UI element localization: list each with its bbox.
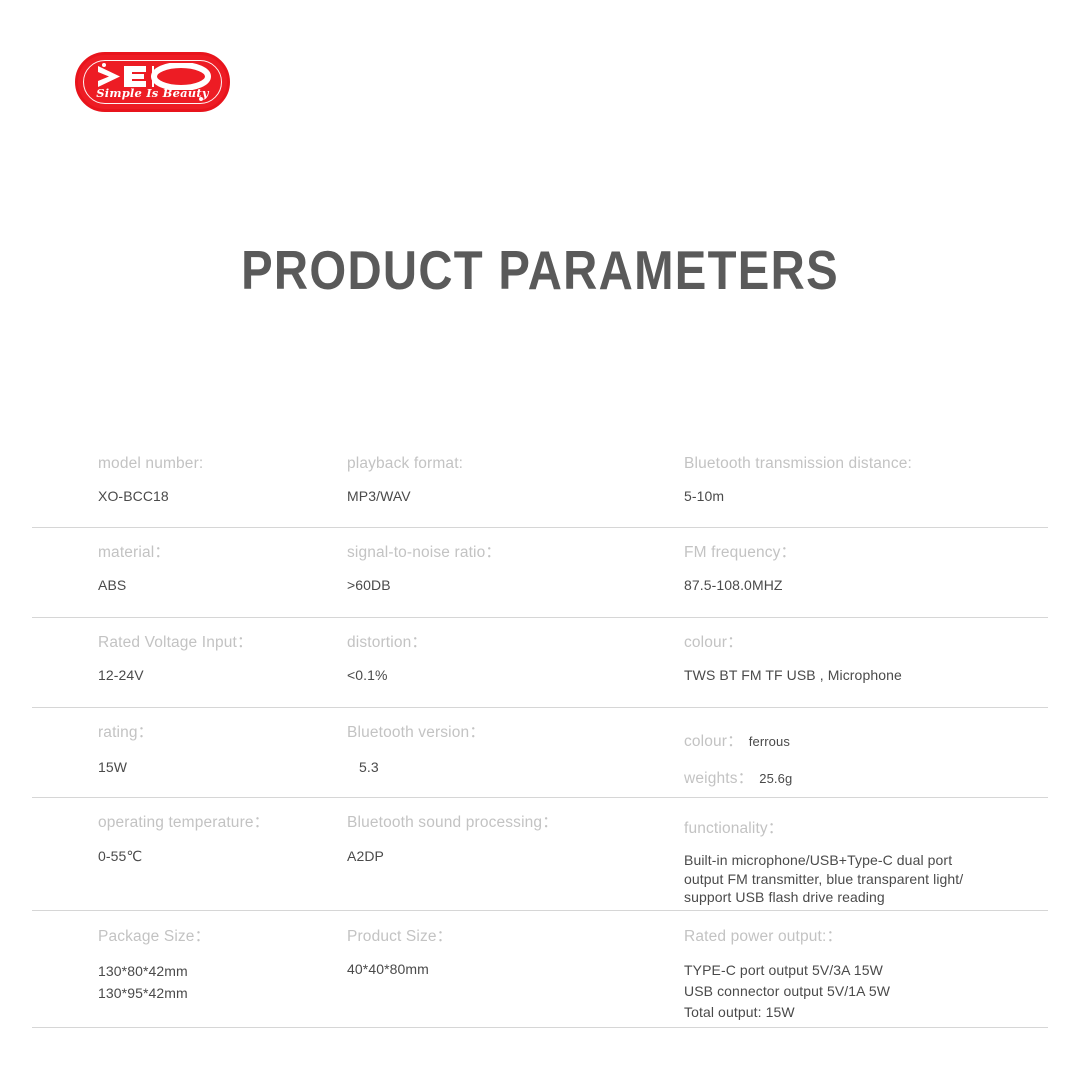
logo-badge: Simple Is Beauty	[75, 52, 230, 112]
spec-value: XO-BCC18	[98, 488, 347, 506]
spec-value: Built-in microphone/USB+Type-C dual port…	[684, 851, 1048, 906]
spec-value: A2DP	[347, 848, 684, 866]
spec-label: Rated Voltage Input：	[98, 633, 347, 652]
spec-label: operating temperature：	[98, 813, 347, 832]
spec-cell-product-size: Product Size： 40*40*80mm	[347, 927, 684, 1027]
spec-cell-snr: signal-to-noise ratio： >60DB	[347, 543, 684, 617]
table-row: model number: XO-BCC18 playback format: …	[32, 440, 1048, 528]
spec-label: signal-to-noise ratio：	[347, 543, 684, 562]
spec-value: ABS	[98, 577, 347, 595]
spec-value: ferrous	[749, 734, 790, 749]
spec-cell-distortion: distortion： <0.1%	[347, 633, 684, 707]
spec-value: MP3/WAV	[347, 488, 684, 506]
specification-table: model number: XO-BCC18 playback format: …	[32, 440, 1048, 1028]
spec-label: Product Size：	[347, 927, 684, 946]
spec-value: 5.3	[347, 759, 684, 777]
spec-cell-rated-power-output: Rated power output:： TYPE-C port output …	[684, 927, 1048, 1027]
spec-label: weights：	[684, 770, 753, 787]
table-row: material： ABS signal-to-noise ratio： >60…	[32, 528, 1048, 618]
page-title: PRODUCT PARAMETERS	[76, 238, 1005, 302]
spec-value: >60DB	[347, 577, 684, 595]
spec-label: distortion：	[347, 633, 684, 652]
spec-value-line: output FM transmitter, blue transparent …	[684, 870, 1048, 888]
table-row: operating temperature： 0-55℃ Bluetooth s…	[32, 798, 1048, 911]
spec-label: playback format:	[347, 454, 684, 473]
spec-label: material：	[98, 543, 347, 562]
spec-pair-weights: weights：25.6g	[684, 766, 1048, 788]
table-row: rating： 15W Bluetooth version： 5.3 colou…	[32, 708, 1048, 798]
spec-value: 5-10m	[684, 488, 1048, 506]
spec-cell-rating: rating： 15W	[32, 723, 347, 797]
spec-label: Rated power output:：	[684, 927, 1048, 946]
spec-cell-rated-voltage-input: Rated Voltage Input： 12-24V	[32, 633, 347, 707]
spec-value: 25.6g	[759, 771, 792, 786]
spec-cell-package-size: Package Size： 130*80*42mm 130*95*42mm	[32, 927, 347, 1027]
spec-value-line: Total output: 15W	[684, 1002, 1048, 1023]
spec-cell-model-number: model number: XO-BCC18	[32, 454, 347, 527]
spec-value: 87.5-108.0MHZ	[684, 577, 1048, 595]
spec-value: 130*80*42mm 130*95*42mm	[98, 961, 347, 1004]
spec-label: Bluetooth transmission distance:	[684, 454, 1048, 473]
spec-value: 40*40*80mm	[347, 961, 684, 979]
spec-cell-material: material： ABS	[32, 543, 347, 617]
spec-value-line: 130*80*42mm	[98, 961, 347, 983]
logo-tagline: Simple Is Beauty	[78, 86, 227, 100]
spec-cell-playback-format: playback format: MP3/WAV	[347, 454, 684, 527]
spec-cell-fm-frequency: FM frequency： 87.5-108.0MHZ	[684, 543, 1048, 617]
spec-label: model number:	[98, 454, 347, 473]
spec-value-line: USB connector output 5V/1A 5W	[684, 981, 1048, 1002]
spec-cell-bluetooth-version: Bluetooth version： 5.3	[347, 723, 684, 797]
spec-label: colour：	[684, 633, 1048, 652]
spec-value-line: support USB flash drive reading	[684, 888, 1048, 906]
spec-value-line: 130*95*42mm	[98, 983, 347, 1005]
spec-label: Package Size：	[98, 927, 347, 946]
spec-label: Bluetooth version：	[347, 723, 684, 742]
spec-label: FM frequency：	[684, 543, 1048, 562]
spec-value: <0.1%	[347, 667, 684, 685]
spec-value: 0-55℃	[98, 848, 347, 866]
spec-label: colour：	[684, 733, 743, 750]
spec-value: 12-24V	[98, 667, 347, 685]
spec-label: functionality：	[684, 819, 1048, 838]
spec-cell-bluetooth-sound-processing: Bluetooth sound processing： A2DP	[347, 813, 684, 910]
spec-label: Bluetooth sound processing：	[347, 813, 684, 832]
spec-cell-functionality: functionality： Built-in microphone/USB+T…	[684, 813, 1048, 910]
brand-logo: Simple Is Beauty	[75, 52, 230, 112]
spec-label: rating：	[98, 723, 347, 742]
spec-cell-colour-features: colour： TWS BT FM TF USB , Microphone	[684, 633, 1048, 707]
spec-value-line: Built-in microphone/USB+Type-C dual port	[684, 851, 1048, 869]
spec-value: TWS BT FM TF USB , Microphone	[684, 667, 1048, 685]
product-parameters-page: { "brand": { "logo_mark": "XO", "tagline…	[0, 0, 1080, 1080]
table-row: Rated Voltage Input： 12-24V distortion： …	[32, 618, 1048, 708]
spec-value-line: TYPE-C port output 5V/3A 15W	[684, 960, 1048, 981]
spec-cell-colour-weights: colour：ferrous weights：25.6g	[684, 723, 1048, 797]
spec-pair-colour: colour：ferrous	[684, 729, 1048, 751]
table-row: Package Size： 130*80*42mm 130*95*42mm Pr…	[32, 911, 1048, 1028]
spec-value: TYPE-C port output 5V/3A 15W USB connect…	[684, 960, 1048, 1023]
spec-value: 15W	[98, 759, 347, 777]
spec-cell-bluetooth-distance: Bluetooth transmission distance: 5-10m	[684, 454, 1048, 527]
spec-cell-operating-temperature: operating temperature： 0-55℃	[32, 813, 347, 910]
